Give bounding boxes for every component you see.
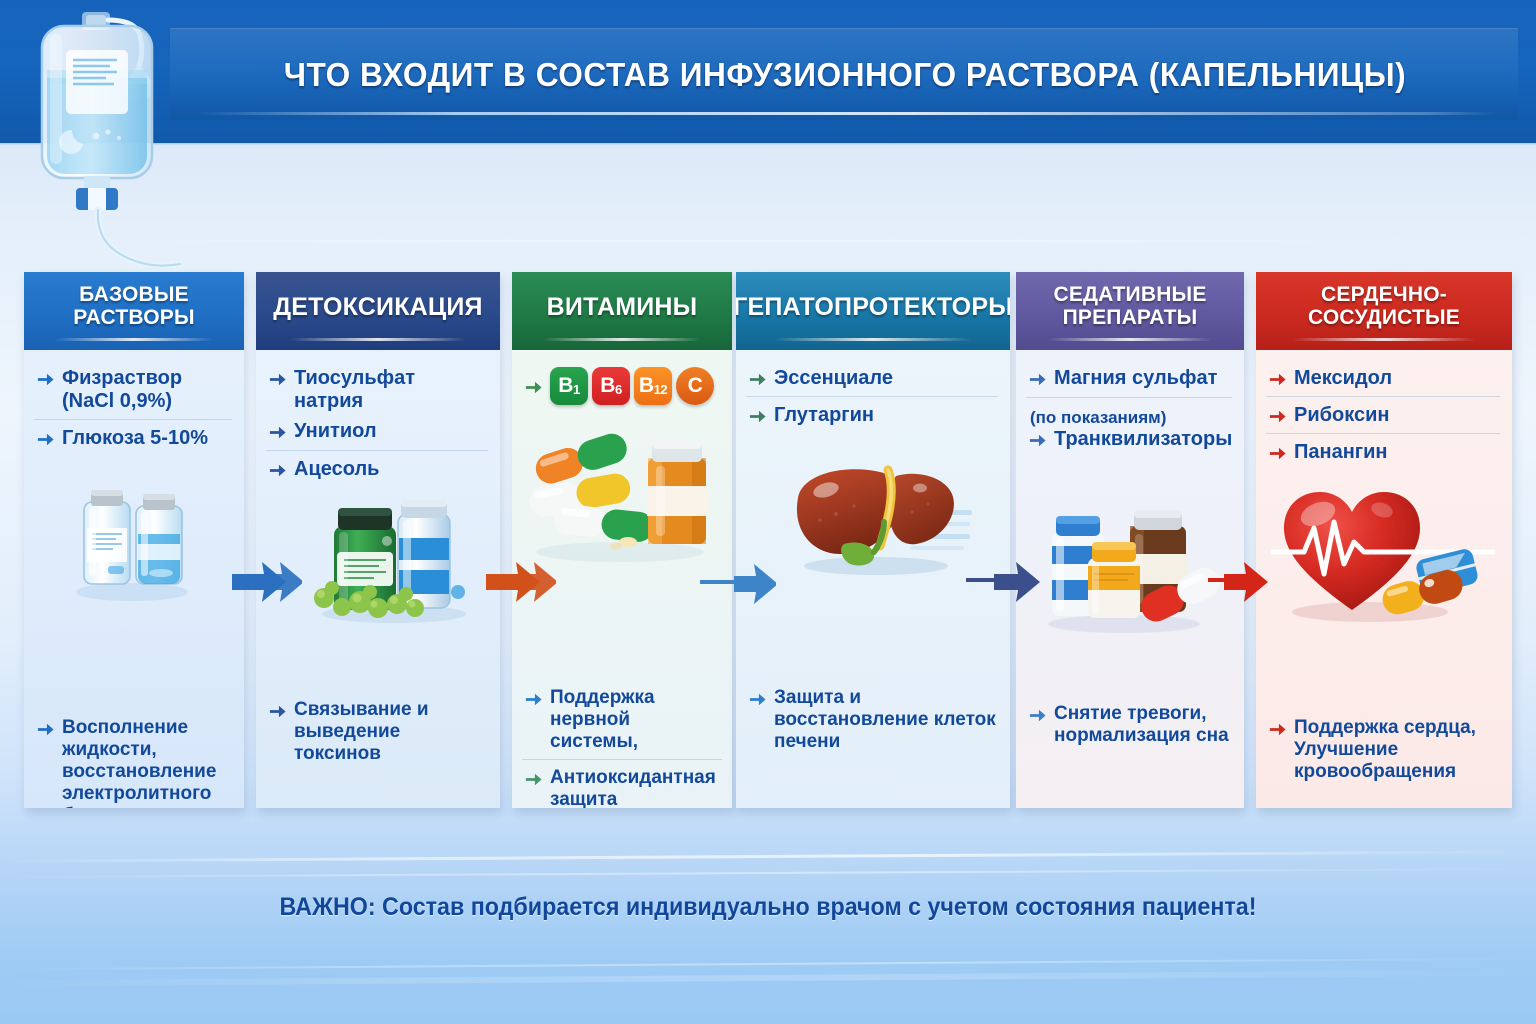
arrow-bullet-icon xyxy=(748,370,767,389)
footer-note: ВАЖНО: Состав подбирается индивидуально … xyxy=(54,893,1482,922)
list-item-label: Магния сульфат xyxy=(1054,367,1217,390)
list-item[interactable]: Транквилизаторы xyxy=(1026,428,1232,455)
infographic-poster: ЧТО ВХОДИТ В СОСТАВ ИНФУЗИОННОГО РАСТВОР… xyxy=(0,0,1536,1024)
iv-drip-bag-icon xyxy=(20,8,220,268)
list-item[interactable]: Защита и восстановление клеток печени xyxy=(746,684,1000,757)
summary-block: Поддержка нервной системы, Антиоксидантн… xyxy=(522,684,722,808)
column-title-line: ГЕПАТОПРОТЕКТОРЫ xyxy=(736,294,1010,321)
capsules-and-pill-bottle-icon xyxy=(520,410,720,570)
arrow-bullet-icon xyxy=(524,690,543,709)
heart-with-ecg-icon xyxy=(1270,480,1495,630)
background-streak xyxy=(0,970,1536,987)
background-streak xyxy=(0,850,1536,862)
arrow-bullet-icon xyxy=(1268,370,1287,389)
green-and-blue-bottles-icon xyxy=(302,486,482,631)
list-item[interactable]: Глутаргин xyxy=(746,396,998,431)
column-header-vitamins: ВИТАМИНЫ xyxy=(512,272,732,350)
list-item[interactable]: Панангин xyxy=(1266,433,1500,468)
list-item[interactable]: Глюкоза 5-10% xyxy=(34,419,232,454)
column-body-base-solutions: Физраствор(NaCl 0,9%) Глюкоза 5-10% xyxy=(24,350,244,808)
list-item-label: Транквилизаторы xyxy=(1054,428,1232,451)
arrow-bullet-icon xyxy=(1268,444,1287,463)
arrow-bullet-icon xyxy=(268,461,287,480)
connector-arrow-1 xyxy=(232,560,302,604)
vitamin-badge-b12: B12 xyxy=(634,367,672,405)
column-title-line: СОСУДИСТЫЕ xyxy=(1308,306,1460,329)
list-item-label: Мексидол xyxy=(1294,367,1392,390)
list-item[interactable]: Снятие тревоги, нормализация сна xyxy=(1026,700,1234,751)
connector-arrow-2 xyxy=(486,560,556,604)
list-item[interactable]: Тиосульфат натрия xyxy=(266,364,488,417)
arrow-bullet-icon xyxy=(1268,407,1287,426)
summary-label: Поддержка нервной системы, xyxy=(550,687,720,753)
liver-organ-icon xyxy=(784,458,974,583)
list-item-label: Ацесоль xyxy=(294,458,379,481)
list-item[interactable]: Поддержка сердца, Улучшение кровообращен… xyxy=(1266,714,1502,787)
column-header-detoxification: ДЕТОКСИКАЦИЯ xyxy=(256,272,500,350)
summary-label: Восполнение жидкости, восстановление эле… xyxy=(62,717,232,808)
background-streak xyxy=(0,240,1536,242)
header-underline xyxy=(196,112,1496,115)
columns-row: БАЗОВЫЕ РАСТВОРЫ Физраствор(NaCl 0,9%) Г… xyxy=(0,272,1536,812)
column-header-hepatoprotectors: ГЕПАТОПРОТЕКТОРЫ xyxy=(736,272,1010,350)
arrow-bullet-icon xyxy=(1268,720,1287,739)
list-item-label: Глутаргин xyxy=(774,404,874,427)
list-item[interactable]: Мексидол xyxy=(1266,364,1500,394)
list-item-label: Глюкоза 5-10% xyxy=(62,427,208,450)
two-glass-vials-icon xyxy=(66,472,206,607)
arrow-bullet-icon xyxy=(748,690,767,709)
summary-label: Антиоксидантная защита xyxy=(550,767,720,808)
summary-label: Связывание и выведение токсинов xyxy=(294,699,488,765)
column-body-cardiovascular: Мексидол Рибоксин Панангин xyxy=(1256,350,1512,808)
column-vitamins[interactable]: ВИТАМИНЫ B1 B6 B12 C xyxy=(512,272,732,808)
summary-block: Восполнение жидкости, восстановление эле… xyxy=(34,714,234,808)
summary-block: Связывание и выведение токсинов xyxy=(266,696,490,769)
arrow-bullet-icon xyxy=(36,430,55,449)
column-header-base-solutions: БАЗОВЫЕ РАСТВОРЫ xyxy=(24,272,244,350)
list-item-label: Панангин xyxy=(1294,441,1388,464)
column-title-line: РАСТВОРЫ xyxy=(73,306,194,329)
column-title-line: ВИТАМИНЫ xyxy=(547,294,698,321)
arrow-bullet-icon xyxy=(1028,431,1047,450)
column-header-cardiovascular: СЕРДЕЧНО- СОСУДИСТЫЕ xyxy=(1256,272,1512,350)
arrow-bullet-icon xyxy=(36,720,55,739)
list-item[interactable]: Поддержка нервной системы, xyxy=(522,684,722,757)
column-header-sedatives: СЕДАТИВНЫЕ ПРЕПАРАТЫ xyxy=(1016,272,1244,350)
column-sedatives[interactable]: СЕДАТИВНЫЕ ПРЕПАРАТЫ Магния сульфат (по … xyxy=(1016,272,1244,808)
list-item-label: Тиосульфат натрия xyxy=(294,367,486,413)
summary-block: Защита и восстановление клеток печени xyxy=(746,684,1000,757)
column-title-line: СЕДАТИВНЫЕ xyxy=(1053,283,1206,306)
background-streak xyxy=(0,868,1536,878)
list-item[interactable]: Эссенциале xyxy=(746,364,998,394)
indication-note: (по показаниям) xyxy=(1026,397,1232,428)
column-title-line: ПРЕПАРАТЫ xyxy=(1063,306,1198,329)
connector-arrow-3 xyxy=(700,562,776,606)
list-item[interactable]: Связывание и выведение токсинов xyxy=(266,696,490,769)
list-item[interactable]: Магния сульфат xyxy=(1026,364,1232,394)
list-item-label: Рибоксин xyxy=(1294,404,1389,427)
summary-label: Поддержка сердца, Улучшение кровообращен… xyxy=(1294,717,1500,783)
vitamin-badge-c: C xyxy=(676,367,714,405)
column-title-line: ДЕТОКСИКАЦИЯ xyxy=(273,294,482,321)
page-title: ЧТО ВХОДИТ В СОСТАВ ИНФУЗИОННОГО РАСТВОР… xyxy=(207,56,1484,94)
arrow-bullet-icon xyxy=(268,702,287,721)
arrow-bullet-icon xyxy=(1028,370,1047,389)
column-base-solutions[interactable]: БАЗОВЫЕ РАСТВОРЫ Физраствор(NaCl 0,9%) Г… xyxy=(24,272,244,808)
summary-block: Снятие тревоги, нормализация сна xyxy=(1026,700,1234,751)
arrow-bullet-icon xyxy=(268,423,287,442)
summary-label: Снятие тревоги, нормализация сна xyxy=(1054,703,1232,747)
list-item[interactable]: Антиоксидантная защита xyxy=(522,759,722,808)
vitamin-badge-row: B1 B6 B12 C xyxy=(522,364,720,409)
arrow-bullet-icon xyxy=(268,370,287,389)
list-item-label: Эссенциале xyxy=(774,367,893,390)
list-item[interactable]: Физраствор(NaCl 0,9%) xyxy=(34,364,232,417)
arrow-bullet-icon xyxy=(524,378,543,397)
summary-label: Защита и восстановление клеток печени xyxy=(774,687,998,753)
column-cardiovascular[interactable]: СЕРДЕЧНО- СОСУДИСТЫЕ Мексидол Рибоксин П… xyxy=(1256,272,1512,808)
column-title-line: БАЗОВЫЕ xyxy=(79,283,189,306)
list-item-label: Физраствор(NaCl 0,9%) xyxy=(62,367,182,413)
arrow-bullet-icon xyxy=(748,407,767,426)
column-hepatoprotectors[interactable]: ГЕПАТОПРОТЕКТОРЫ Эссенциале Глутаргин xyxy=(736,272,1010,808)
summary-block: Поддержка сердца, Улучшение кровообращен… xyxy=(1266,714,1502,787)
background-streak xyxy=(0,958,1536,971)
list-item[interactable]: Восполнение жидкости, восстановление эле… xyxy=(34,714,234,808)
connector-arrow-4 xyxy=(966,560,1046,604)
vitamin-badge-b6: B6 xyxy=(592,367,630,405)
column-detoxification[interactable]: ДЕТОКСИКАЦИЯ Тиосульфат натрия Унитиол А… xyxy=(256,272,500,808)
arrow-bullet-icon xyxy=(524,770,543,789)
column-title-line: СЕРДЕЧНО- xyxy=(1321,283,1447,306)
arrow-bullet-icon xyxy=(1028,706,1047,725)
list-item-label: Унитиол xyxy=(294,420,377,443)
list-item[interactable]: Ацесоль xyxy=(266,450,488,485)
connector-arrow-5 xyxy=(1208,560,1280,604)
list-item[interactable]: Рибоксин xyxy=(1266,396,1500,431)
list-item[interactable]: Унитиол xyxy=(266,417,488,447)
vitamin-badge-b1: B1 xyxy=(550,367,588,405)
arrow-bullet-icon xyxy=(36,370,55,389)
medicine-bottles-and-capsule-icon xyxy=(1032,496,1222,641)
